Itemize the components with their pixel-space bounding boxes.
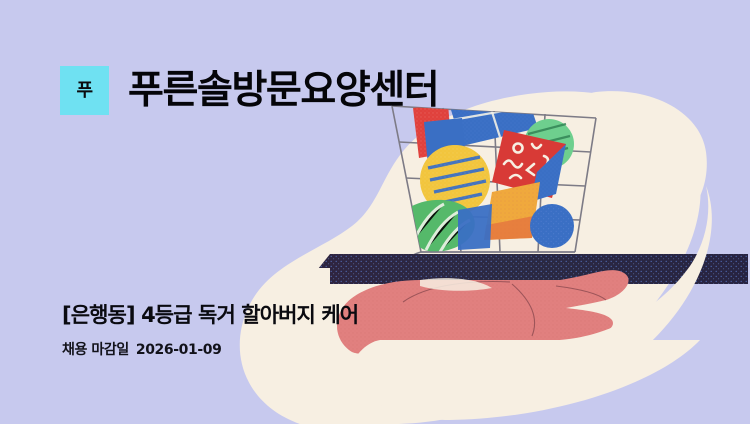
- deadline-label: 채용 마감일: [62, 342, 129, 358]
- org-initial-text: 푸: [76, 82, 92, 100]
- illustration: [0, 0, 750, 424]
- organization-header: 푸 푸른솔방문요양센터: [60, 66, 438, 115]
- org-initial-badge: 푸: [60, 66, 109, 115]
- blue-block-bottom: [458, 204, 492, 250]
- deadline-row: 채용 마감일2026-01-09: [62, 339, 358, 359]
- job-posting-card: 푸 푸른솔방문요양센터 [은행동] 4등급 독거 할아버지 케어 채용 마감일2…: [0, 0, 750, 424]
- job-title: [은행동] 4등급 독거 할아버지 케어: [62, 303, 358, 327]
- deadline-date: 2026-01-09: [136, 342, 222, 358]
- organization-name: 푸른솔방문요양센터: [128, 71, 438, 110]
- job-info: [은행동] 4등급 독거 할아버지 케어 채용 마감일2026-01-09: [62, 303, 358, 359]
